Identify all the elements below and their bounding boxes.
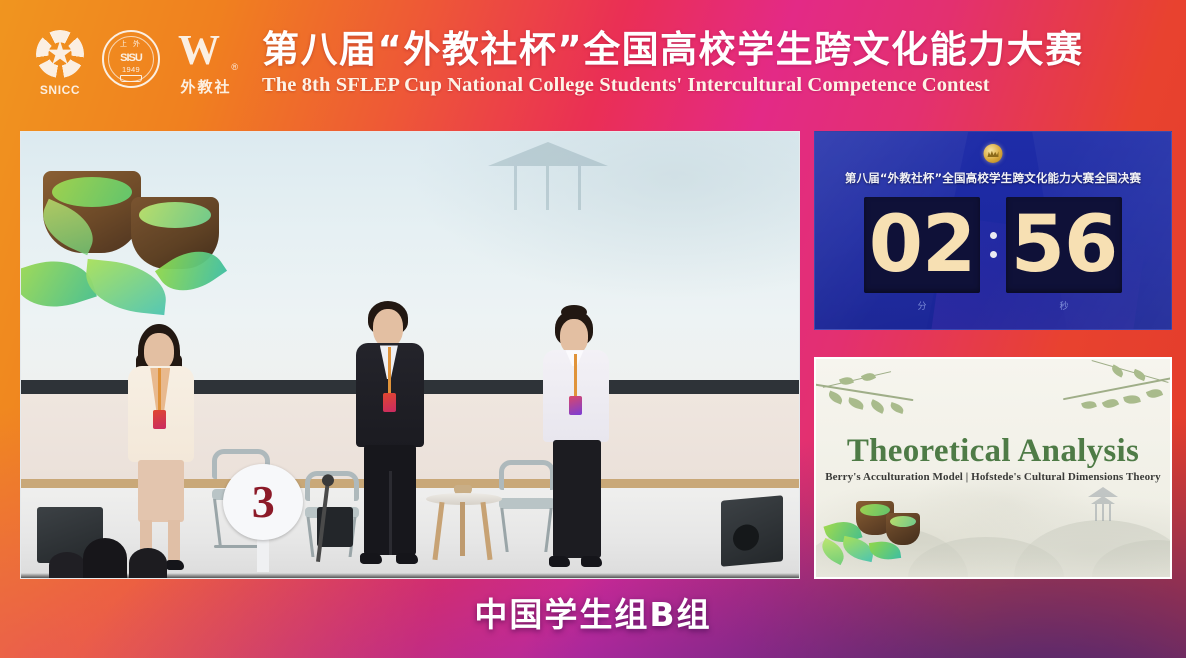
timer-seconds-unit: 秒 [1006, 299, 1122, 312]
timer-minutes-box: 02 [864, 197, 980, 293]
snicc-logo-caption: SNICC [40, 83, 80, 97]
timer-unit-labels: 分 秒 [815, 299, 1171, 312]
stage-speaker [721, 495, 783, 566]
sflep-logo: W ® 外教社 [178, 30, 234, 97]
stage-scene: 3 [21, 132, 799, 578]
backdrop-tea-artwork [33, 167, 253, 337]
sflep-w-glyph: W [178, 30, 234, 72]
sflep-w-icon: W ® [178, 30, 234, 74]
team-number-value: 3 [252, 479, 275, 525]
contest-title-chinese: 第八届“外教社杯”全国高校学生跨文化能力大赛 [262, 29, 1084, 70]
timer-minutes-value: 02 [869, 207, 976, 283]
slide-branch-right-decoration [1050, 365, 1172, 431]
sisu-seal-year: 1949 [104, 65, 158, 74]
broadcast-header: SNICC 上 外 SISU 1949 W ® 外教社 第八届“外教社杯”全国高… [0, 0, 1186, 126]
slide-pavilion-icon [1088, 487, 1118, 521]
group-caption: 中国学生组B组 [0, 588, 1186, 636]
slide-tea-cups-illustration [826, 499, 936, 571]
slide-title: Theoretical Analysis [816, 433, 1170, 470]
contest-crest-icon [984, 144, 1003, 163]
logo-group: SNICC 上 外 SISU 1949 W ® 外教社 [36, 30, 234, 97]
sisu-seal-icon: 上 外 SISU 1949 [102, 30, 160, 88]
timer-minutes-unit: 分 [864, 299, 980, 312]
slide-subtitle: Berry's Acculturation Model | Hofstede's… [816, 471, 1170, 483]
sisu-seal-top-text: 上 外 [104, 39, 158, 49]
sisu-seal-book-icon [120, 75, 142, 82]
snicc-logo: SNICC [36, 30, 84, 97]
slide-branch-left-decoration [814, 371, 930, 429]
sisu-seal-logo: 上 外 SISU 1949 [102, 30, 160, 88]
countdown-timer-panel[interactable]: 第八届“外教社杯”全国高校学生跨文化能力大赛全国决赛 02 56 分 秒 [814, 131, 1172, 330]
stage-video-feed[interactable]: 3 [20, 131, 800, 579]
contest-title-english: The 8th SFLEP Cup National College Stude… [262, 74, 1084, 97]
backdrop-pavilion-icon [488, 142, 608, 212]
presentation-slide-panel[interactable]: Theoretical Analysis Berry's Acculturati… [814, 357, 1172, 579]
sisu-seal-mid-text: SISU [104, 52, 158, 64]
timer-colon-separator [980, 232, 1006, 258]
contestant-right [531, 310, 623, 578]
header-titles: 第八届“外教社杯”全国高校学生跨文化能力大赛 The 8th SFLEP Cup… [262, 29, 1084, 97]
contestant-badge [569, 396, 582, 415]
audience-silhouettes [83, 536, 213, 578]
registered-mark-icon: ® [231, 62, 238, 72]
countdown-clock: 02 56 [815, 197, 1171, 293]
sflep-logo-caption: 外教社 [180, 76, 231, 97]
timer-seconds-box: 56 [1006, 197, 1122, 293]
contestant-badge [153, 410, 166, 429]
team-number-placard: 3 [223, 464, 303, 572]
snicc-star-icon [36, 30, 84, 78]
contestant-center [344, 301, 440, 578]
timer-subtitle: 第八届“外教社杯”全国高校学生跨文化能力大赛全国决赛 [815, 170, 1171, 186]
timer-seconds-value: 56 [1011, 207, 1118, 283]
contestant-badge [383, 393, 396, 412]
